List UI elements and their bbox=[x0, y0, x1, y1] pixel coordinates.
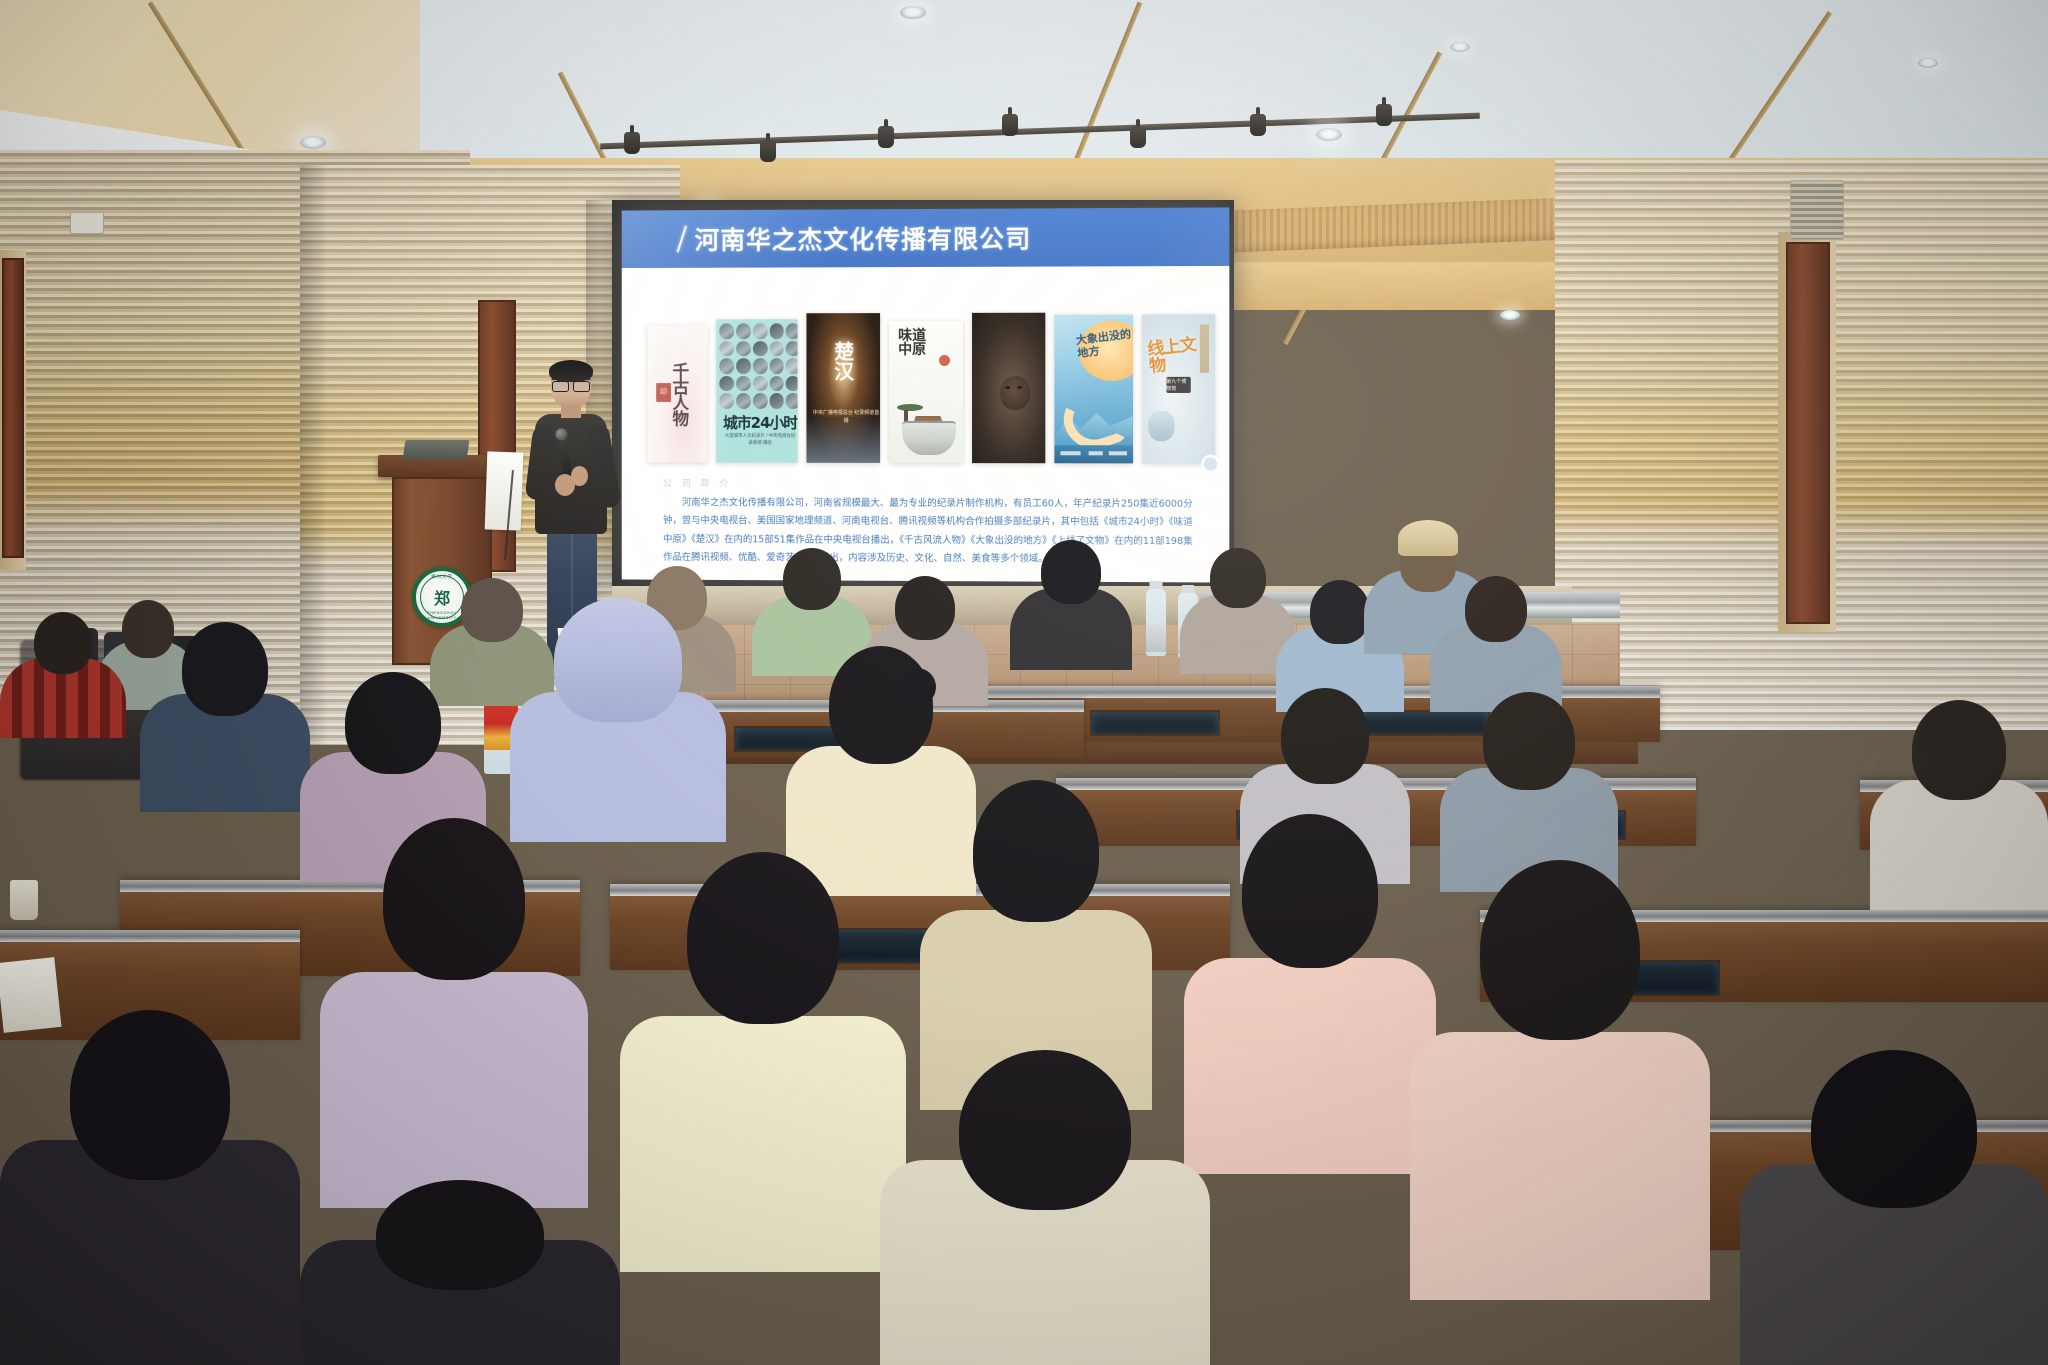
audience-person bbox=[880, 1050, 1210, 1365]
ceiling-downlight bbox=[300, 136, 326, 149]
audience-person bbox=[1010, 540, 1132, 670]
poster-item: 楚汉 中央广播电视总台 纪录频道首播 bbox=[806, 313, 880, 463]
bottle-cap bbox=[1150, 581, 1163, 589]
person-head bbox=[345, 672, 441, 774]
hair-bun bbox=[898, 668, 936, 706]
person-head bbox=[1281, 688, 1369, 784]
paper-sheet-on-desk bbox=[0, 957, 61, 1033]
person-head bbox=[34, 612, 92, 674]
slide-title: 河南华之杰文化传播有限公司 bbox=[695, 219, 1032, 256]
door-left[interactable] bbox=[2, 258, 24, 558]
person-head bbox=[383, 818, 525, 980]
poster-item: 味道中原 bbox=[889, 321, 963, 463]
ceiling-downlight bbox=[1500, 310, 1520, 320]
person-head bbox=[1480, 860, 1640, 1040]
door-right[interactable] bbox=[1786, 242, 1830, 624]
gorilla-face-icon bbox=[1000, 376, 1030, 410]
poster-footer-band bbox=[1054, 445, 1133, 463]
track-spotlight bbox=[624, 132, 640, 154]
water-cup bbox=[10, 880, 38, 920]
poster-item bbox=[972, 313, 1045, 464]
artifact-vase-icon bbox=[1148, 411, 1174, 441]
person-head bbox=[1483, 692, 1575, 790]
poster-item: 千古人物 印 bbox=[647, 325, 707, 462]
person-head bbox=[959, 1050, 1131, 1210]
slide-faint-line: 公司简介 bbox=[663, 476, 1193, 495]
poster-seal: 印 bbox=[656, 383, 671, 402]
poster-subtitle: 中央广播电视总台 纪录频道首播 bbox=[812, 409, 880, 425]
person-head bbox=[1811, 1050, 1977, 1208]
poster-title: 城市24小时 bbox=[721, 412, 798, 433]
poster-title: 楚汉 bbox=[829, 341, 858, 381]
ceiling-downlight bbox=[1918, 58, 1938, 68]
laptop[interactable] bbox=[403, 440, 470, 460]
audience-person bbox=[1870, 700, 2048, 910]
audience-person bbox=[620, 852, 906, 1272]
wall-switch-plate[interactable] bbox=[70, 212, 104, 234]
audience-person bbox=[0, 1010, 300, 1365]
person-shoulders bbox=[1410, 1032, 1710, 1300]
poster-item: 线上文物 第九个博物馆 bbox=[1142, 314, 1215, 463]
audience-person bbox=[1740, 1050, 2048, 1365]
poster-subtitle: 大型城市人文纪录片 / 中央电视台纪录频道 播出 bbox=[724, 433, 795, 447]
hooded-head bbox=[554, 598, 682, 722]
person-shoulders bbox=[1184, 958, 1436, 1174]
person-head bbox=[1242, 814, 1378, 968]
poster-title: 味道中原 bbox=[898, 329, 963, 357]
ceiling-downlight bbox=[1450, 42, 1470, 52]
wall-vent-grille bbox=[1790, 180, 1844, 240]
poster-item: 城市24小时 大型城市人文纪录片 / 中央电视台纪录频道 播出 bbox=[717, 319, 798, 463]
person-head bbox=[1912, 700, 2006, 800]
person-shoulders bbox=[620, 1016, 906, 1272]
person-head bbox=[973, 780, 1099, 922]
audience-person bbox=[300, 1180, 620, 1365]
bowl-icon bbox=[902, 421, 956, 455]
person-head bbox=[1310, 580, 1370, 644]
person-head bbox=[783, 548, 841, 610]
person-head bbox=[895, 576, 955, 640]
track-spotlight bbox=[1376, 104, 1392, 126]
presenter-hand-2 bbox=[571, 466, 588, 486]
track-spotlight bbox=[1002, 114, 1018, 136]
poster-circle-grid bbox=[720, 323, 798, 409]
track-spotlight bbox=[1250, 114, 1266, 136]
poster-red-dot bbox=[939, 355, 950, 366]
bottle-label bbox=[1146, 624, 1166, 652]
audience-person bbox=[320, 818, 588, 1208]
poster-row: 千古人物 印 城市24小时 大型城市人文纪录片 / 中央电视台纪录频道 播出 bbox=[637, 312, 1215, 463]
track-spotlight bbox=[1130, 126, 1146, 148]
water-bottle bbox=[1146, 588, 1166, 656]
person-head bbox=[182, 622, 268, 716]
poster-title: 线上文物 bbox=[1146, 336, 1214, 414]
person-shoulders bbox=[320, 972, 588, 1208]
slide-header: 河南华之杰文化传播有限公司 bbox=[622, 207, 1230, 268]
audience-person-hoodie bbox=[510, 598, 726, 842]
person-head bbox=[687, 852, 839, 1024]
person-head bbox=[1465, 576, 1527, 642]
ceiling-downlight bbox=[900, 6, 926, 19]
slash-icon bbox=[677, 225, 687, 252]
person-head bbox=[376, 1180, 544, 1290]
poster-title: 千古人物 bbox=[669, 362, 687, 426]
audience-person bbox=[0, 612, 126, 738]
audience-person bbox=[1410, 860, 1710, 1300]
desk-top bbox=[0, 930, 300, 942]
audience-person bbox=[140, 622, 310, 812]
light-track-rail bbox=[600, 113, 1480, 150]
person-head bbox=[1210, 548, 1266, 608]
ceiling-downlight bbox=[1316, 128, 1342, 141]
person-head bbox=[1041, 540, 1101, 604]
desk-monitor bbox=[1090, 710, 1220, 736]
glasses-icon bbox=[552, 381, 590, 390]
lecture-hall-photo: 河南华之杰文化传播有限公司 千古人物 印 bbox=[0, 0, 2048, 1365]
person-head bbox=[70, 1010, 230, 1180]
track-spotlight bbox=[878, 126, 894, 148]
poster-item: 大象出没的地方 bbox=[1054, 315, 1133, 464]
slide-nav-dot[interactable] bbox=[1204, 457, 1217, 470]
projection-screen: 河南华之杰文化传播有限公司 千古人物 印 bbox=[622, 207, 1230, 582]
presentation-slide: 河南华之杰文化传播有限公司 千古人物 印 bbox=[622, 207, 1230, 582]
poster-tag: 第九个博物馆 bbox=[1166, 377, 1190, 393]
paper-sheets bbox=[485, 451, 524, 530]
track-spotlight bbox=[760, 140, 776, 162]
audience-person bbox=[1184, 814, 1436, 1174]
presenter-hair bbox=[549, 360, 593, 382]
straw-hat bbox=[1398, 520, 1458, 556]
